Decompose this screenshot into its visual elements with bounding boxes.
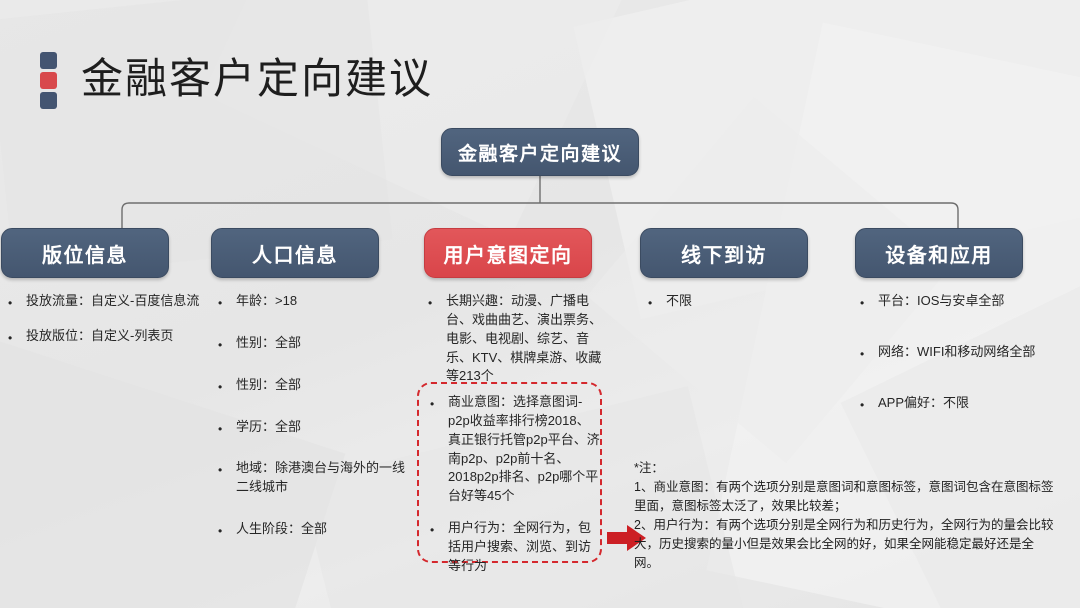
bullet-dot-icon: • — [430, 393, 448, 410]
bullet-dot-icon: • — [218, 292, 236, 309]
list-item: • 性别：全部 — [218, 334, 414, 353]
list-item: • 性别：全部 — [218, 376, 414, 395]
list-item-text: APP偏好：不限 — [878, 394, 1075, 413]
list-item-text: 平台：IOS与安卓全部 — [878, 292, 1075, 311]
category-label: 版位信息 — [42, 239, 128, 268]
list-item: • 长期兴趣：动漫、广播电台、戏曲曲艺、演出票务、电影、电视剧、综艺、音乐、KT… — [428, 292, 614, 386]
list-item-text: 学历：全部 — [236, 418, 414, 437]
list-item-text: 不限 — [666, 292, 844, 311]
list-item: • 网络：WIFI和移动网络全部 — [860, 343, 1075, 362]
category-label: 设备和应用 — [885, 239, 993, 268]
category-node-user-intent[interactable]: 用户意图定向 — [424, 228, 592, 278]
bullet-dot-icon: • — [428, 292, 446, 309]
bullet-dot-icon: • — [218, 334, 236, 351]
bullet-dot-icon: • — [860, 343, 878, 360]
list-item-text: 投放版位：自定义-列表页 — [26, 327, 204, 346]
note-line: 2、用户行为：有两个选项分别是全网行为和历史行为，全网行为的量会比较大，历史搜索… — [634, 516, 1054, 573]
root-node[interactable]: 金融客户定向建议 — [441, 128, 639, 176]
list-item: • 投放流量：自定义-百度信息流 — [8, 292, 204, 311]
list-item-text: 地域：除港澳台与海外的一线二线城市 — [236, 459, 414, 497]
bullet-dot-icon: • — [218, 520, 236, 537]
list-item: • 地域：除港澳台与海外的一线二线城市 — [218, 459, 414, 497]
category-label: 用户意图定向 — [444, 239, 573, 268]
list-item: • 人生阶段：全部 — [218, 520, 414, 539]
bullet-dot-icon: • — [8, 292, 26, 309]
category-node-offline-visit[interactable]: 线下到访 — [640, 228, 808, 278]
bullet-dot-icon: • — [218, 376, 236, 393]
bullet-column-demographic: • 年龄：>18 • 性别：全部 • 性别：全部 • 学历：全部 • 地域：除港… — [218, 292, 414, 562]
list-item: • 商业意图：选择意图词-p2p收益率排行榜2018、真正银行托管p2p平台、济… — [430, 393, 602, 506]
bullet-dot-icon: • — [860, 292, 878, 309]
note-heading: *注： — [634, 459, 1054, 478]
bullet-dot-icon: • — [8, 327, 26, 344]
bullet-dot-icon: • — [860, 394, 878, 411]
list-item-text: 性别：全部 — [236, 334, 414, 353]
list-item-text: 用户行为：全网行为，包括用户搜索、浏览、到访等行为 — [448, 519, 602, 576]
list-item: • 学历：全部 — [218, 418, 414, 437]
list-item-text: 性别：全部 — [236, 376, 414, 395]
bullet-column-user-intent: • 长期兴趣：动漫、广播电台、戏曲曲艺、演出票务、电影、电视剧、综艺、音乐、KT… — [428, 292, 614, 396]
note-block: *注： 1、商业意图：有两个选项分别是意图词和意图标签，意图词包含在意图标签里面… — [634, 459, 1054, 573]
title-block: 金融客户定向建议 — [40, 48, 433, 109]
list-item-text: 网络：WIFI和移动网络全部 — [878, 343, 1075, 362]
list-item: • 年龄：>18 — [218, 292, 414, 311]
note-line: 1、商业意图：有两个选项分别是意图词和意图标签，意图词包含在意图标签里面，意图标… — [634, 478, 1054, 516]
list-item-text: 人生阶段：全部 — [236, 520, 414, 539]
list-item: • 不限 — [648, 292, 844, 311]
bullet-dot-icon: • — [430, 519, 448, 536]
bullet-column-banner-info: • 投放流量：自定义-百度信息流 • 投放版位：自定义-列表页 — [8, 292, 204, 362]
bullet-column-offline-visit: • 不限 — [648, 292, 844, 327]
bullet-dot-icon: • — [218, 459, 236, 476]
list-item: • 投放版位：自定义-列表页 — [8, 327, 204, 346]
list-item-text: 长期兴趣：动漫、广播电台、戏曲曲艺、演出票务、电影、电视剧、综艺、音乐、KTV、… — [446, 292, 614, 386]
list-item: • 用户行为：全网行为，包括用户搜索、浏览、到访等行为 — [430, 519, 602, 576]
category-node-device-app[interactable]: 设备和应用 — [855, 228, 1023, 278]
root-node-label: 金融客户定向建议 — [458, 139, 622, 166]
category-label: 人口信息 — [252, 239, 338, 268]
list-item-text: 投放流量：自定义-百度信息流 — [26, 292, 204, 311]
category-node-demographic[interactable]: 人口信息 — [211, 228, 379, 278]
highlight-region: • 商业意图：选择意图词-p2p收益率排行榜2018、真正银行托管p2p平台、济… — [417, 382, 602, 563]
list-item-text: 年龄：>18 — [236, 292, 414, 311]
list-item: • 平台：IOS与安卓全部 — [860, 292, 1075, 311]
list-item-text: 商业意图：选择意图词-p2p收益率排行榜2018、真正银行托管p2p平台、济南p… — [448, 393, 602, 506]
page-title: 金融客户定向建议 — [81, 58, 433, 100]
title-marker-icon — [40, 52, 57, 109]
list-item: • APP偏好：不限 — [860, 394, 1075, 413]
bullet-dot-icon: • — [648, 292, 666, 309]
category-label: 线下到访 — [681, 239, 767, 268]
slide-canvas: 金融客户定向建议 金融客户定向建议 版位信息 人口信息 用户意图定向 线下到访 … — [0, 0, 1080, 608]
category-node-banner-info[interactable]: 版位信息 — [1, 228, 169, 278]
bullet-column-device-app: • 平台：IOS与安卓全部 • 网络：WIFI和移动网络全部 • APP偏好：不… — [860, 292, 1075, 445]
bullet-dot-icon: • — [218, 418, 236, 435]
